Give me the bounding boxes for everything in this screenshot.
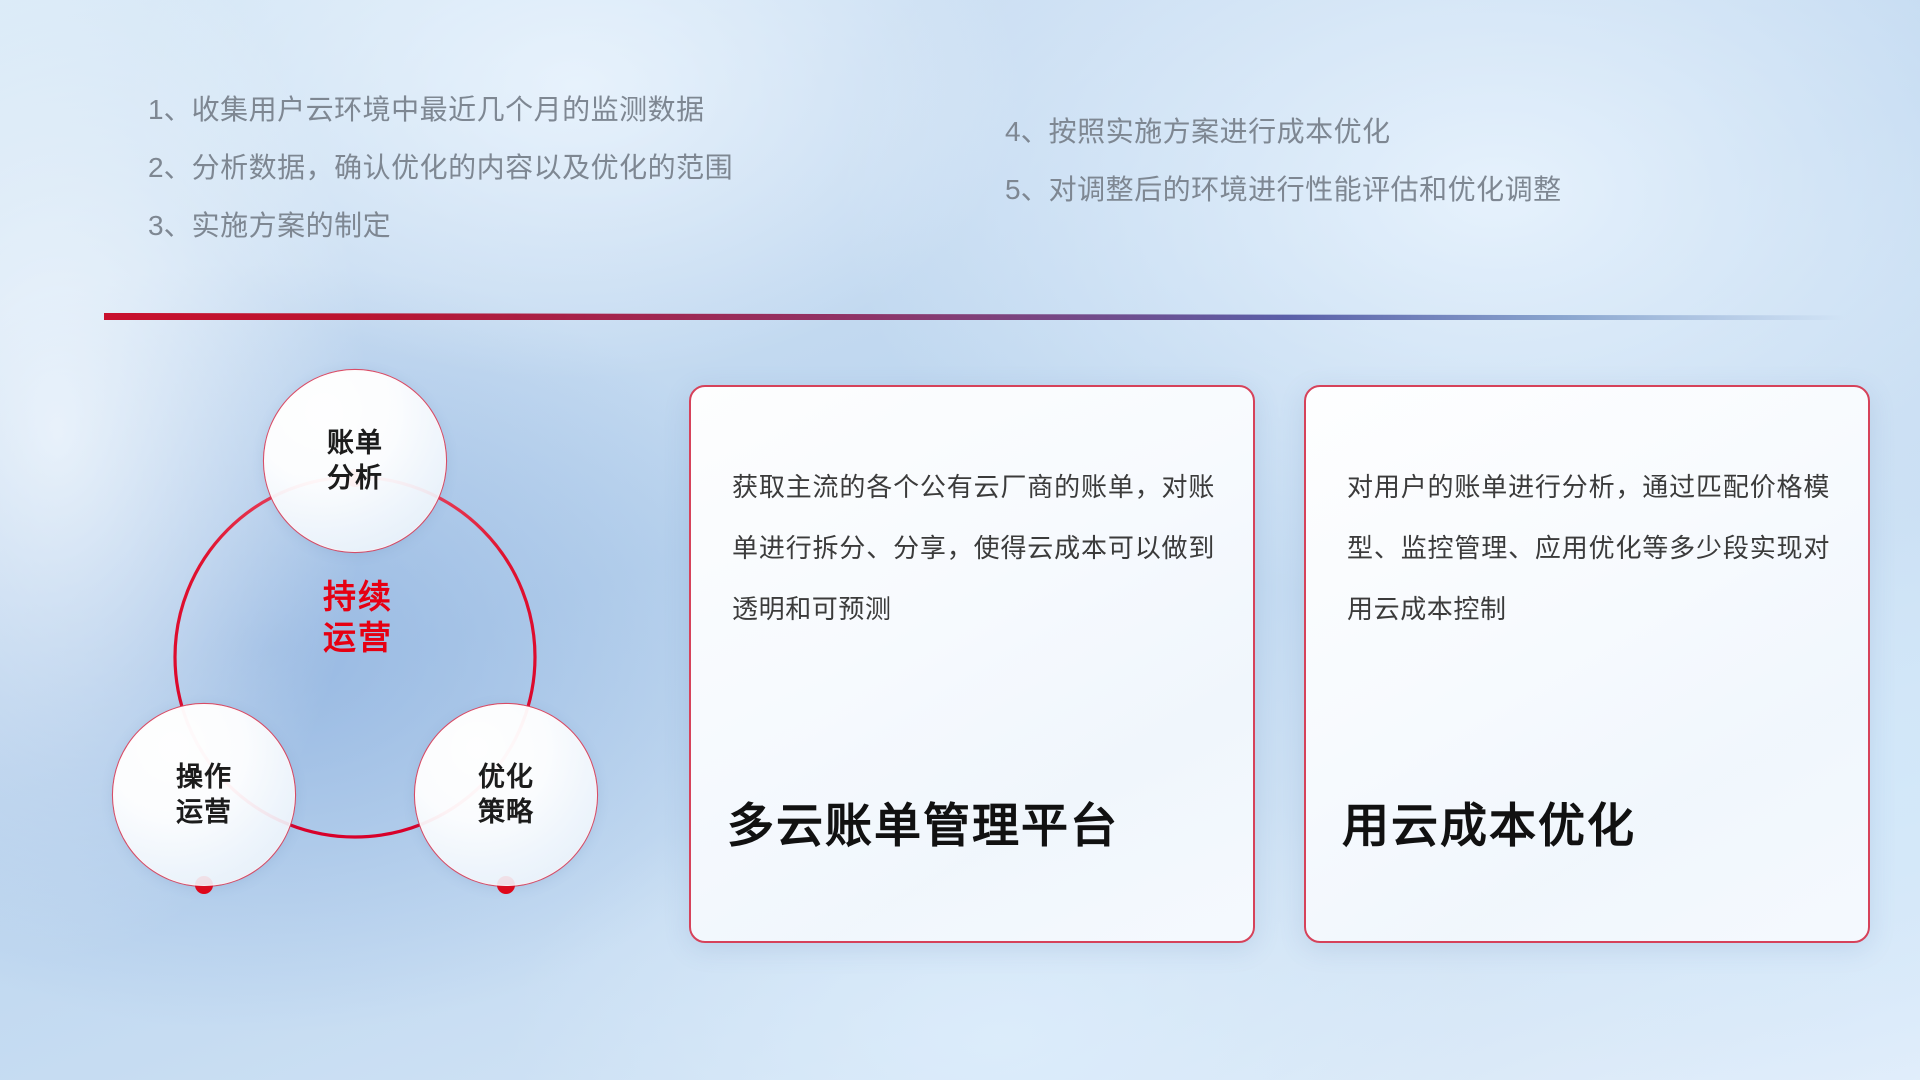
step-item: 5、对调整后的环境进行性能评估和优化调整 — [1005, 176, 1562, 204]
center-label-line1: 持续 — [303, 577, 413, 618]
step-text: 实施方案的制定 — [192, 210, 392, 241]
bubble-label: 优化 策略 — [478, 760, 534, 829]
card-divider — [1343, 745, 1835, 752]
step-item: 2、分析数据，确认优化的内容以及优化的范围 — [148, 154, 733, 182]
bubble-label-line1: 账单 — [327, 426, 383, 461]
bubble-label-line1: 操作 — [176, 760, 232, 795]
center-label-line2: 运营 — [303, 618, 413, 659]
bubble-label-line1: 优化 — [478, 760, 534, 795]
continuous-operations-diagram: 账单 分析 操作 运营 优化 策略 持续 运营 — [95, 352, 635, 932]
step-number: 2、 — [148, 152, 192, 183]
card-divider — [728, 745, 1220, 752]
card-description: 对用户的账单进行分析，通过匹配价格模型、监控管理、应用优化等多少段实现对用云成本… — [1347, 457, 1830, 640]
step-item: 1、收集用户云环境中最近几个月的监测数据 — [148, 96, 733, 124]
step-number: 3、 — [148, 210, 192, 241]
step-item: 3、实施方案的制定 — [148, 212, 733, 240]
card-title: 用云成本优化 — [1342, 800, 1636, 852]
step-text: 对调整后的环境进行性能评估和优化调整 — [1049, 174, 1562, 205]
step-text: 收集用户云环境中最近几个月的监测数据 — [192, 94, 705, 125]
diagram-center-label: 持续 运营 — [303, 577, 413, 659]
steps-right-column: 4、按照实施方案进行成本优化 5、对调整后的环境进行性能评估和优化调整 — [1005, 118, 1562, 234]
bubble-label: 操作 运营 — [176, 760, 232, 829]
step-item: 4、按照实施方案进行成本优化 — [1005, 118, 1562, 146]
bubble-optimization-strategy[interactable]: 优化 策略 — [415, 704, 597, 886]
bubble-operations[interactable]: 操作 运营 — [113, 704, 295, 886]
step-number: 1、 — [148, 94, 192, 125]
bubble-bill-analysis[interactable]: 账单 分析 — [264, 370, 446, 552]
bubble-label-line2: 运营 — [176, 795, 232, 830]
card-description: 获取主流的各个公有云厂商的账单，对账单进行拆分、分享，使得云成本可以做到透明和可… — [732, 457, 1215, 640]
bubble-label: 账单 分析 — [327, 426, 383, 495]
card-cloud-cost-optimization[interactable]: 对用户的账单进行分析，通过匹配价格模型、监控管理、应用优化等多少段实现对用云成本… — [1304, 385, 1870, 943]
card-title: 多云账单管理平台 — [727, 800, 1119, 852]
card-multi-cloud-billing[interactable]: 获取主流的各个公有云厂商的账单，对账单进行拆分、分享，使得云成本可以做到透明和可… — [689, 385, 1255, 943]
step-number: 5、 — [1005, 174, 1049, 205]
step-text: 按照实施方案进行成本优化 — [1049, 116, 1391, 147]
steps-left-column: 1、收集用户云环境中最近几个月的监测数据 2、分析数据，确认优化的内容以及优化的… — [148, 96, 733, 270]
step-number: 4、 — [1005, 116, 1049, 147]
bubble-label-line2: 策略 — [478, 795, 534, 830]
step-text: 分析数据，确认优化的内容以及优化的范围 — [192, 152, 734, 183]
bubble-label-line2: 分析 — [327, 461, 383, 496]
